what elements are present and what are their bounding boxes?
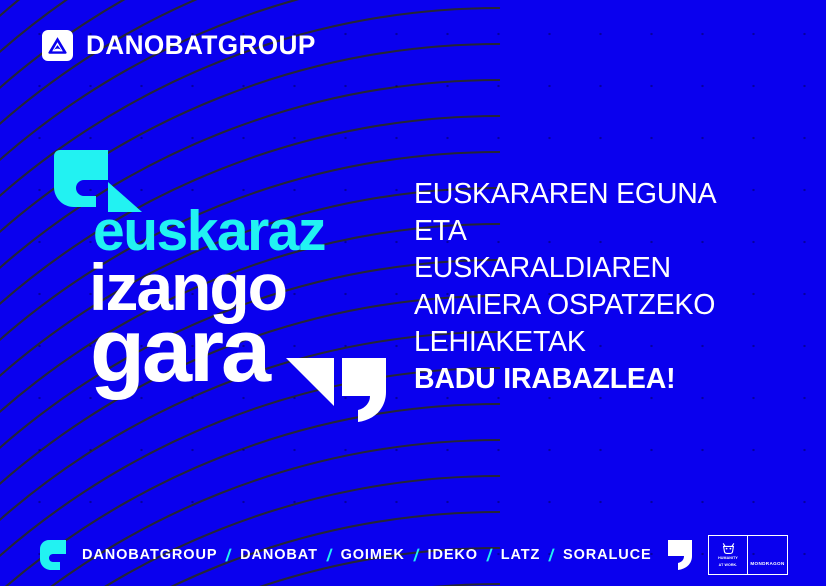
copy-line-highlight: BADU IRABAZLEA! [414, 361, 784, 398]
danobatgroup-triangle-icon [42, 30, 73, 61]
mondragon-partner-logo: HUMANITY AT WORK. MONDRAGON [708, 535, 788, 575]
humanity-caption-line-1: HUMANITY [718, 556, 738, 560]
copy-line: EUSKARALDIAREN [414, 250, 784, 287]
footer-separator-icon: / [412, 547, 419, 564]
mondragon-wordmark-block: MONDRAGON [748, 536, 787, 574]
footer-brand-danobatgroup[interactable]: DANOBATGROUP [82, 548, 217, 563]
headline-block: euskaraz izango gara [44, 150, 394, 389]
footer-brand-latz[interactable]: LATZ [501, 548, 541, 563]
footer-separator-icon: / [486, 547, 493, 564]
humanity-at-work-block: HUMANITY AT WORK. [709, 536, 748, 574]
header-brand-text: DANOBATGROUP [86, 32, 316, 59]
copy-line: AMAIERA OSPATZEKO [414, 287, 784, 324]
footer-closing-quote-icon [668, 540, 692, 570]
footer-brand-goimek[interactable]: GOIMEK [341, 548, 405, 563]
danobat-c-icon [40, 540, 66, 570]
footer-separator-icon: / [548, 547, 555, 564]
copy-line: LEHIAKETAK [414, 324, 784, 361]
copy-block: EUSKARAREN EGUNA ETA EUSKARALDIAREN AMAI… [414, 176, 784, 398]
copy-line: EUSKARAREN EGUNA [414, 176, 784, 213]
mondragon-wordmark: MONDRAGON [750, 562, 784, 567]
footer-brand-soraluce[interactable]: SORALUCE [563, 548, 652, 563]
footer-separator-icon: / [325, 547, 332, 564]
poster-canvas: DANOBATGROUP euskaraz izango gara EUSKAR… [0, 0, 826, 586]
footer-bar: DANOBATGROUP / DANOBAT / GOIMEK / IDEKO … [0, 524, 826, 586]
humanity-caption-line-2: AT WORK. [719, 563, 738, 567]
opening-quote-icon [46, 150, 148, 212]
closing-quote-icon [282, 352, 390, 424]
header-logo: DANOBATGROUP [42, 30, 323, 61]
footer-brand-danobat[interactable]: DANOBAT [240, 548, 318, 563]
headline-line-1: euskaraz [93, 208, 394, 255]
footer-separator-icon: / [225, 547, 232, 564]
footer-brand-ideko[interactable]: IDEKO [428, 548, 478, 563]
humanity-at-work-icon [722, 543, 735, 554]
copy-line: ETA [414, 213, 784, 250]
footer-brand-list: DANOBATGROUP / DANOBAT / GOIMEK / IDEKO … [82, 547, 652, 564]
